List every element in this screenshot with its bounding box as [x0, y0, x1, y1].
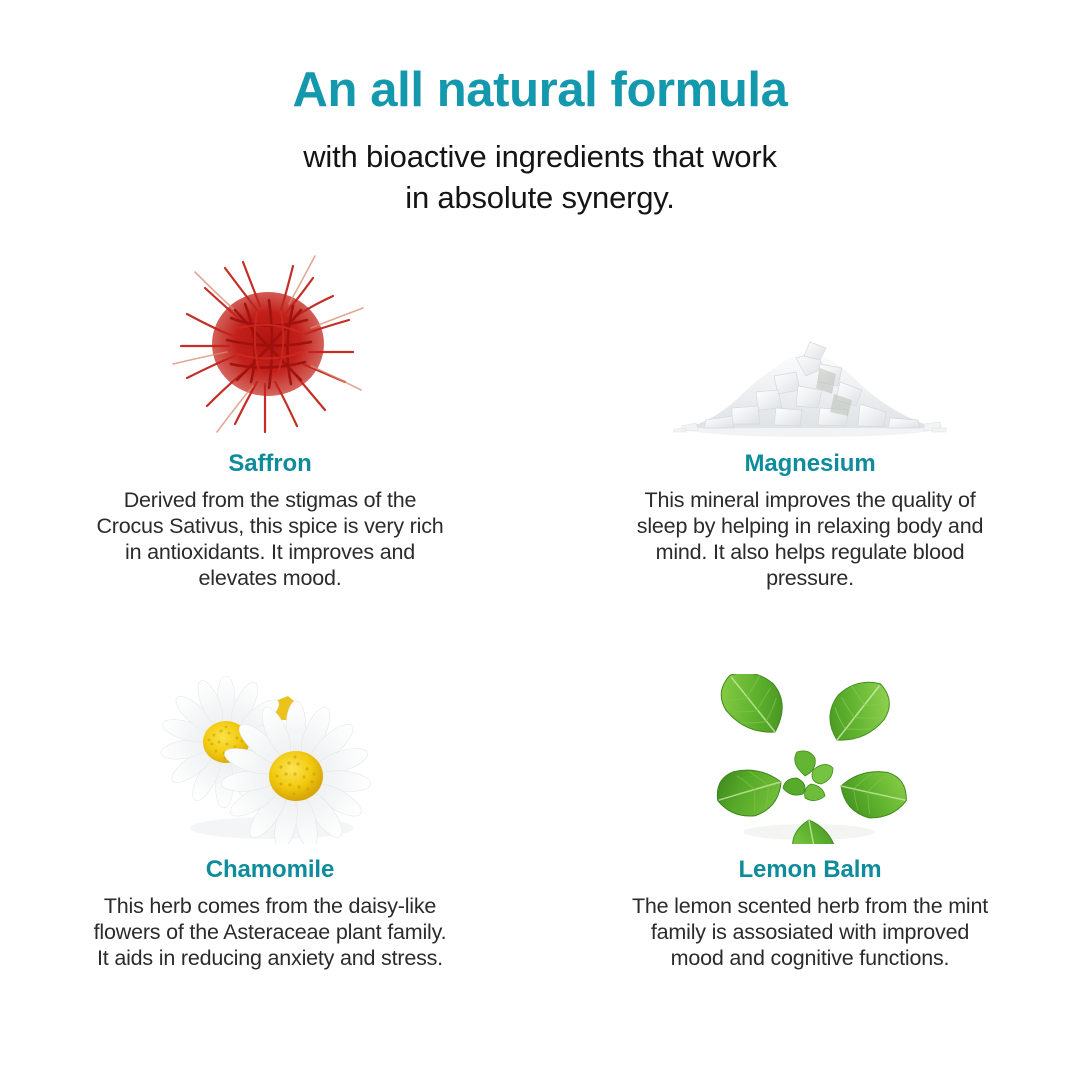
magnesium-crystals-photo: [660, 248, 960, 438]
ingredient-title: Chamomile: [206, 856, 334, 885]
page-title: An all natural formula: [0, 62, 1080, 120]
page-subtitle: with bioactive ingredients that work in …: [0, 136, 1080, 219]
magnesium-crystals-icon: [670, 328, 950, 438]
lemon-balm-leaves-icon: [705, 674, 915, 844]
ingredient-description: Derived from the stigmas of the Crocus S…: [94, 487, 446, 592]
ingredient-description: This herb comes from the daisy-like flow…: [88, 893, 452, 972]
page-subtitle-line-2: in absolute synergy.: [0, 177, 1080, 219]
saffron-threads-icon: [165, 248, 375, 438]
ingredients-infographic: An all natural formula with bioactive in…: [0, 0, 1080, 1080]
ingredient-description: This mineral improves the quality of sle…: [626, 487, 994, 592]
lemon-balm-leaves-photo: [660, 658, 960, 844]
ingredient-title: Lemon Balm: [738, 856, 881, 885]
ingredient-card-chamomile: Chamomile This herb comes from the daisy…: [0, 658, 540, 1068]
ingredient-grid: Saffron Derived from the stigmas of the …: [0, 248, 1080, 1068]
saffron-threads-photo: [120, 248, 420, 438]
ingredient-card-saffron: Saffron Derived from the stigmas of the …: [0, 248, 540, 658]
ingredient-card-lemonbalm: Lemon Balm The lemon scented herb from t…: [540, 658, 1080, 1068]
ingredient-title: Magnesium: [744, 450, 875, 479]
header: An all natural formula with bioactive in…: [0, 62, 1080, 219]
chamomile-flowers-photo: [120, 658, 420, 844]
ingredient-title: Saffron: [228, 450, 311, 479]
ingredient-description: The lemon scented herb from the mint fam…: [628, 893, 992, 972]
chamomile-flowers-icon: [160, 668, 380, 844]
ingredient-card-magnesium: Magnesium This mineral improves the qual…: [540, 248, 1080, 658]
page-subtitle-line-1: with bioactive ingredients that work: [0, 136, 1080, 178]
